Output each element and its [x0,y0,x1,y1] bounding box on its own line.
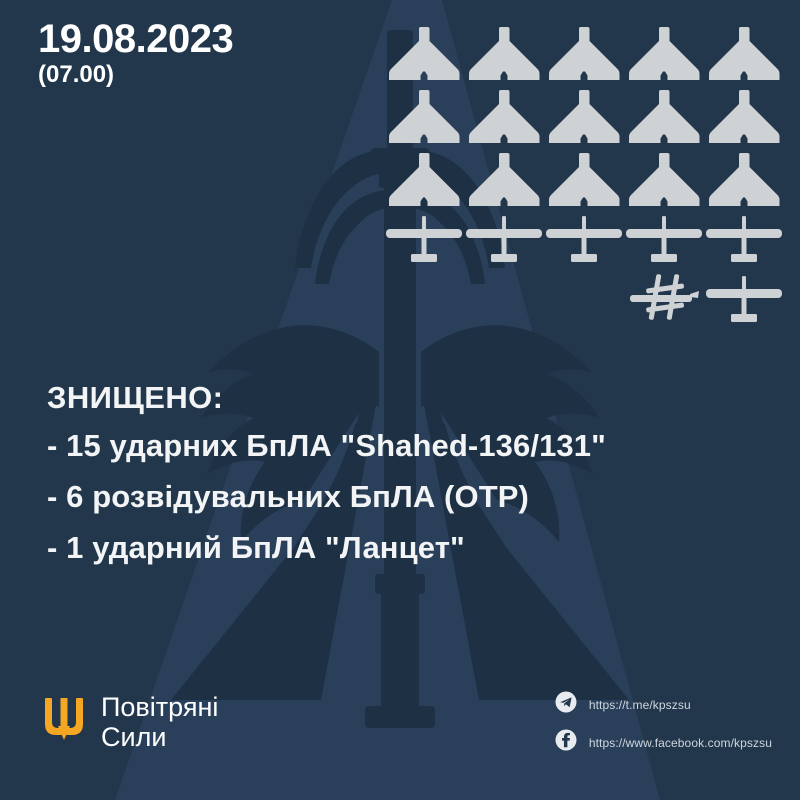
recon-drone-icon [464,214,544,266]
shahed-drone-icon [544,88,624,146]
tally-item-lancet: - 1 ударний БпЛА "Ланцет" [47,532,606,563]
facebook-icon[interactable] [555,729,577,756]
report-date-block: 19.08.2023 (07.00) [38,18,233,89]
facebook-url[interactable]: https://www.facebook.com/kpszsu [589,736,772,750]
report-content: ЗНИЩЕНО: - 15 ударних БпЛА "Shahed-136/1… [47,380,606,583]
shahed-drone-icon [704,151,784,209]
shahed-drone-icon [624,88,704,146]
lancet-drone-icon [624,270,704,326]
shahed-drone-icon [704,25,784,83]
shahed-drone-icon [464,25,544,83]
shahed-drone-icon [624,151,704,209]
shahed-drone-icon [544,25,624,83]
social-links: https://t.me/kpszsu https://www.facebook… [555,691,772,756]
shahed-drone-icon [704,88,784,146]
report-date: 19.08.2023 [38,18,233,60]
brand-name: Повітряні Сили [101,692,218,752]
recon-drone-icon [384,214,464,266]
report-headline: ЗНИЩЕНО: [47,380,606,416]
mixed-icon-row [384,266,784,326]
report-time: (07.00) [38,61,233,89]
recon-drone-icon [624,214,704,266]
recon-drone-icon [704,274,784,326]
social-link-telegram[interactable]: https://t.me/kpszsu [555,691,772,718]
shahed-drone-icon [384,151,464,209]
telegram-icon[interactable] [555,691,577,718]
shahed-drone-icon [544,151,624,209]
brand-block: Повітряні Сили [44,692,218,752]
shahed-icon-row [384,83,784,146]
shahed-drone-icon [464,151,544,209]
social-link-facebook[interactable]: https://www.facebook.com/kpszsu [555,729,772,756]
shahed-drone-icon [384,88,464,146]
air-force-report-poster: 19.08.2023 (07.00) [0,0,800,800]
shahed-drone-icon [624,25,704,83]
telegram-url[interactable]: https://t.me/kpszsu [589,698,691,712]
tally-item-recon: - 6 розвідувальних БпЛА (ОТР) [47,481,606,512]
recon-drone-icon [544,214,624,266]
destroyed-drone-icon-grid [384,20,784,326]
shahed-drone-icon [384,25,464,83]
ukrainian-trident-icon [44,696,84,747]
recon-drone-icon [704,214,784,266]
shahed-drone-icon [464,88,544,146]
shahed-icon-row [384,146,784,209]
shahed-icon-row [384,20,784,83]
tally-item-shahed: - 15 ударних БпЛА "Shahed-136/131" [47,430,606,461]
recon-icon-row [384,209,784,266]
